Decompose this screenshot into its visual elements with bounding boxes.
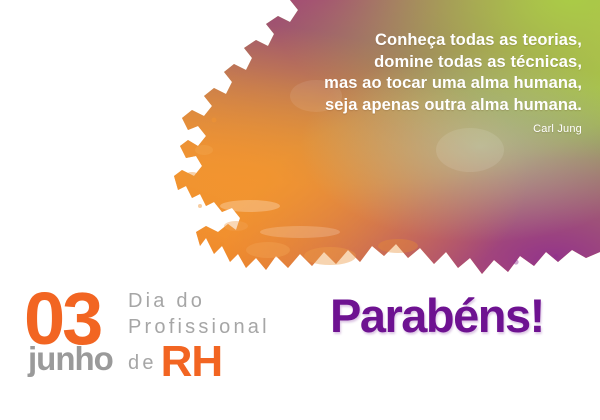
title-line-2: Profissional xyxy=(128,314,328,340)
title-rh-acronym: RH xyxy=(161,337,223,386)
quote-line-2: domine todas as técnicas, xyxy=(242,52,582,74)
greeting-card: Conheça todas as teorias, domine todas a… xyxy=(0,0,600,420)
quote-author: Carl Jung xyxy=(242,123,582,135)
quote-line-1: Conheça todas as teorias, xyxy=(242,30,582,52)
title-line-1: Dia do xyxy=(128,288,328,314)
date-title-lockup: 03 junho Dia do Profissional deRH xyxy=(20,280,320,390)
quote-line-4: seja apenas outra alma humana. xyxy=(242,95,582,117)
greeting-text: Parabéns! xyxy=(330,290,544,342)
title-stack: Dia do Profissional deRH xyxy=(128,288,328,384)
title-de-label: de xyxy=(128,352,157,374)
quote-line-3: mas ao tocar uma alma humana, xyxy=(242,73,582,95)
title-line-3: deRH xyxy=(128,340,328,384)
quote-block: Conheça todas as teorias, domine todas a… xyxy=(242,30,582,135)
month-label: junho xyxy=(28,342,113,375)
